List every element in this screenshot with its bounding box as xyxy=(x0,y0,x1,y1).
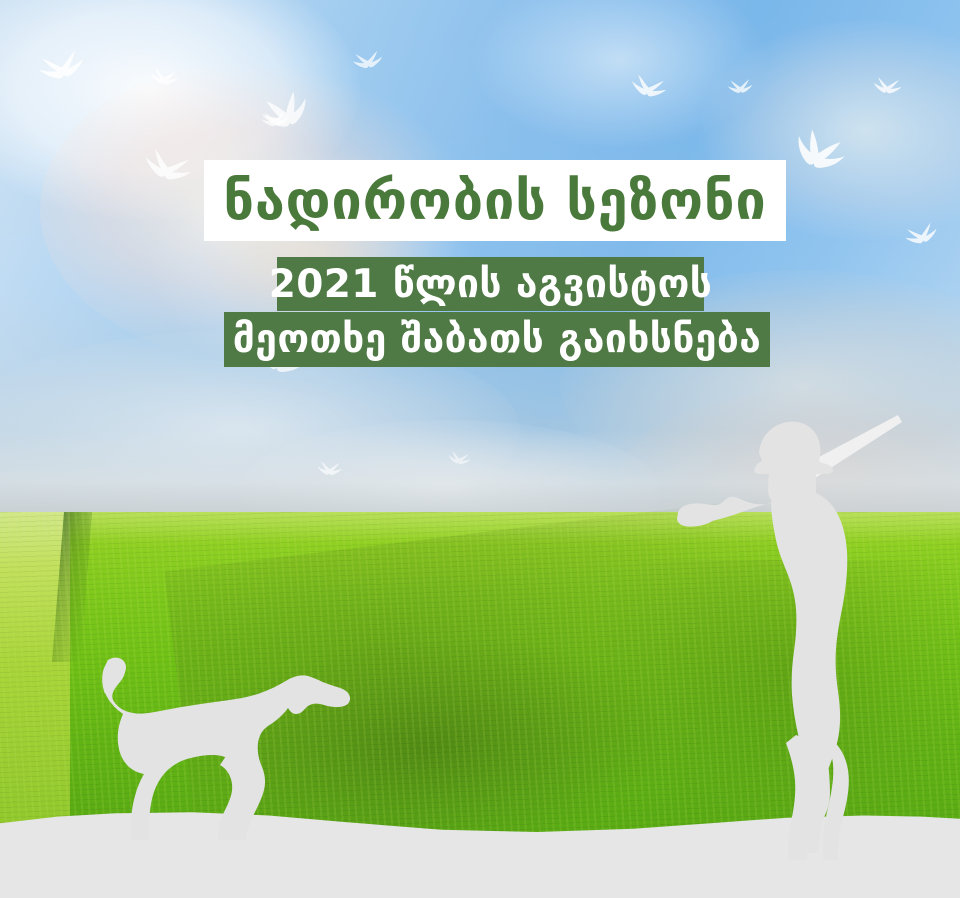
page-title: ნადირობის სეზონი xyxy=(223,174,766,228)
subtitle-band-second-line: მეოთხე შაბათს გაიხსნება xyxy=(224,312,770,367)
title-band: ნადირობის სეზონი xyxy=(204,160,786,241)
subtitle-line-1: 2021 წლის აგვისტოს xyxy=(269,265,713,304)
grass-highlight-overlay xyxy=(0,512,960,852)
subtitle-line-2: მეოთხე შაბათს გაიხსნება xyxy=(233,320,762,359)
subtitle-band-first-line: 2021 წლის აგვისტოს xyxy=(277,257,704,311)
hunting-season-poster: ნადირობის სეზონი 2021 წლის აგვისტოს მეოთ… xyxy=(0,0,960,898)
